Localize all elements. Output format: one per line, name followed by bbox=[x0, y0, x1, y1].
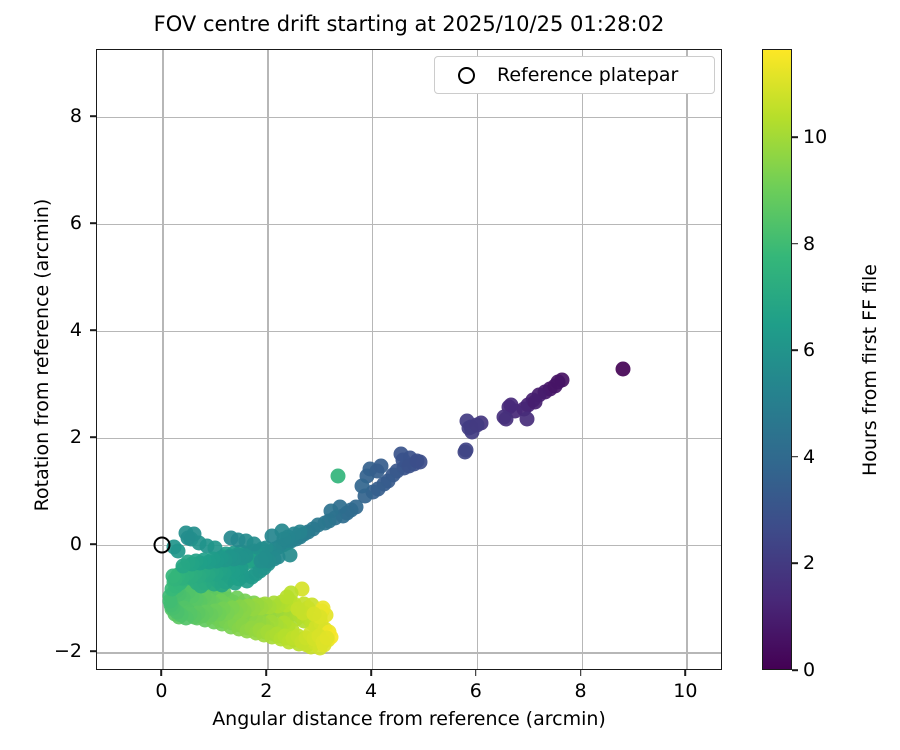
data-point bbox=[307, 606, 322, 621]
page-title: FOV centre drift starting at 2025/10/25 … bbox=[96, 12, 722, 36]
plot-area[interactable] bbox=[96, 49, 722, 670]
y-tick-mark bbox=[90, 329, 96, 331]
gridline-vertical bbox=[686, 50, 687, 669]
gridline-vertical bbox=[267, 50, 268, 669]
x-tick-mark bbox=[475, 670, 477, 676]
gridline-vertical bbox=[582, 50, 583, 669]
data-point bbox=[616, 361, 631, 376]
x-tick-label: 0 bbox=[155, 680, 167, 702]
data-point bbox=[528, 394, 543, 409]
data-point bbox=[548, 378, 563, 393]
colorbar-tick-label: 4 bbox=[803, 446, 815, 468]
gridline-vertical bbox=[162, 50, 163, 669]
y-tick-mark bbox=[90, 650, 96, 652]
data-point bbox=[519, 412, 534, 427]
colorbar-tick-mark bbox=[792, 669, 798, 671]
x-tick-mark bbox=[580, 670, 582, 676]
legend-marker-wrap bbox=[435, 67, 497, 84]
data-point bbox=[469, 418, 484, 433]
open-circle-icon bbox=[458, 67, 475, 84]
x-tick-mark bbox=[685, 670, 687, 676]
data-point bbox=[176, 558, 191, 573]
colorbar-tick-mark bbox=[792, 456, 798, 458]
x-tick-mark bbox=[265, 670, 267, 676]
data-point bbox=[274, 524, 289, 539]
y-axis-label: Rotation from reference (arcmin) bbox=[31, 185, 53, 525]
colorbar-tick-mark bbox=[792, 563, 798, 565]
x-tick-label: 8 bbox=[575, 680, 587, 702]
gridline-horizontal bbox=[97, 117, 721, 118]
x-tick-label: 6 bbox=[470, 680, 482, 702]
gridline-horizontal bbox=[97, 331, 721, 332]
colorbar-tick-label: 6 bbox=[803, 339, 815, 361]
y-tick-mark bbox=[90, 543, 96, 545]
colorbar-tick-mark bbox=[792, 243, 798, 245]
colorbar-tick-label: 2 bbox=[803, 552, 815, 574]
gridline-horizontal bbox=[97, 438, 721, 439]
x-tick-label: 2 bbox=[260, 680, 272, 702]
gridline-horizontal bbox=[97, 224, 721, 225]
y-tick-label: 0 bbox=[20, 533, 82, 555]
data-point bbox=[410, 453, 425, 468]
colorbar-tick-label: 8 bbox=[803, 233, 815, 255]
data-point bbox=[354, 479, 369, 494]
reference-platepar-marker bbox=[154, 537, 171, 554]
colorbar-label: Hours from first FF file bbox=[859, 200, 881, 540]
data-point bbox=[374, 458, 389, 473]
y-tick-label: 8 bbox=[20, 105, 82, 127]
data-point bbox=[280, 589, 295, 604]
gridline-vertical bbox=[372, 50, 373, 669]
y-tick-mark bbox=[90, 115, 96, 117]
gridline-horizontal bbox=[97, 652, 721, 653]
x-tick-label: 10 bbox=[673, 680, 697, 702]
gridline-vertical bbox=[477, 50, 478, 669]
x-tick-label: 4 bbox=[365, 680, 377, 702]
y-tick-mark bbox=[90, 222, 96, 224]
data-point bbox=[504, 397, 519, 412]
y-tick-label: −2 bbox=[20, 640, 82, 662]
legend[interactable]: Reference platepar bbox=[434, 56, 715, 94]
data-point bbox=[458, 445, 473, 460]
data-point bbox=[223, 530, 238, 545]
legend-entry-label: Reference platepar bbox=[497, 64, 678, 86]
colorbar-tick-mark bbox=[792, 136, 798, 138]
data-point bbox=[253, 554, 268, 569]
data-point bbox=[330, 468, 345, 483]
colorbar-tick-label: 0 bbox=[803, 659, 815, 681]
figure-canvas: FOV centre drift starting at 2025/10/25 … bbox=[0, 0, 900, 750]
data-point bbox=[290, 602, 305, 617]
colorbar[interactable] bbox=[762, 49, 792, 670]
data-point bbox=[180, 530, 195, 545]
colorbar-tick-label: 10 bbox=[803, 126, 827, 148]
y-tick-mark bbox=[90, 436, 96, 438]
data-point bbox=[319, 631, 334, 646]
x-axis-label: Angular distance from reference (arcmin) bbox=[96, 708, 722, 730]
colorbar-tick-mark bbox=[792, 349, 798, 351]
x-tick-mark bbox=[370, 670, 372, 676]
x-tick-mark bbox=[161, 670, 163, 676]
